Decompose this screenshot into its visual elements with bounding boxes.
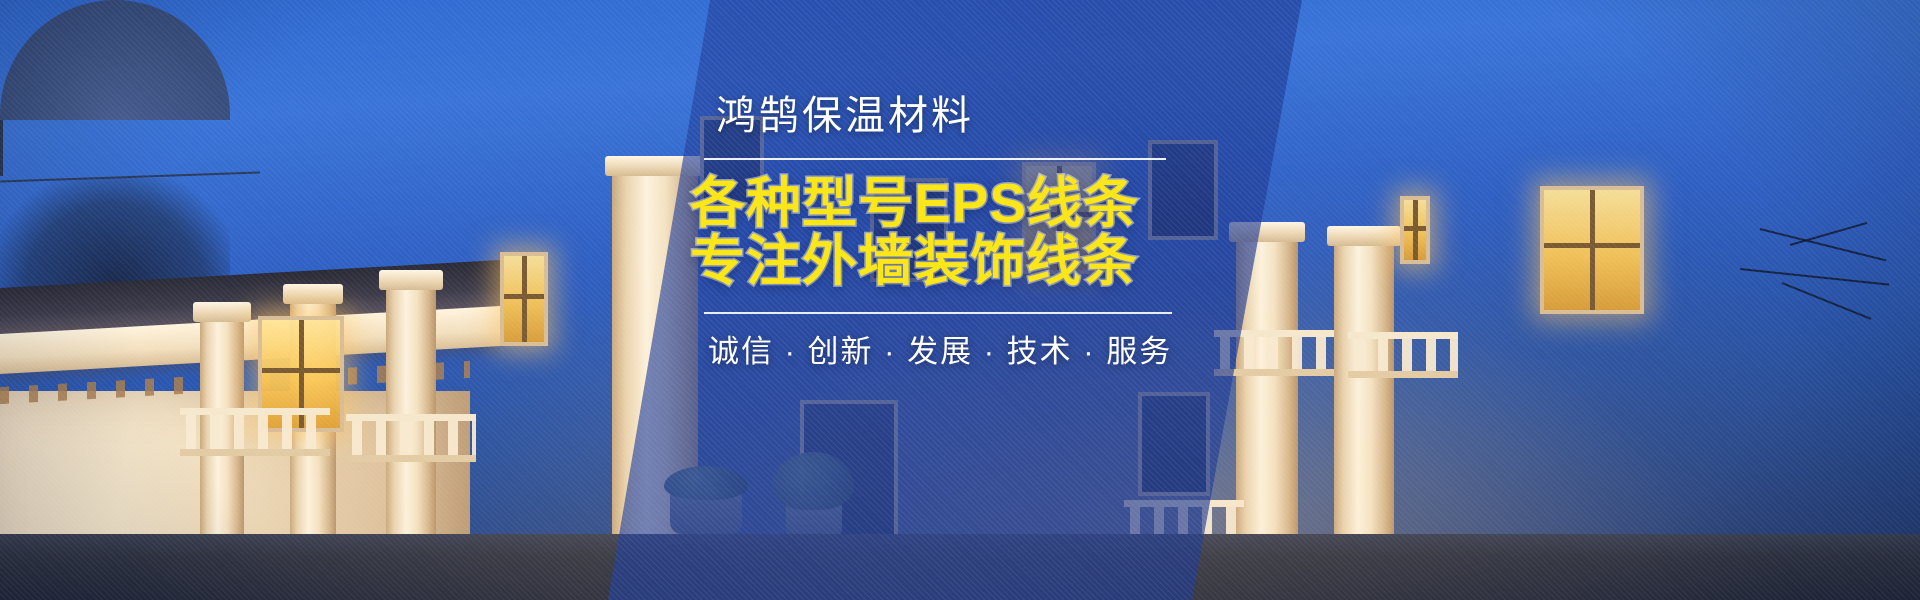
tree-branch-icon [1740,268,1889,286]
banner-copy: 鸿鹄保温材料 各种型号EPS线条 专注外墙装饰线条 诚信 · 创新 · 发展 ·… [690,96,1250,370]
brand-name: 鸿鹄保温材料 [716,96,1250,136]
balustrade [346,414,476,462]
shrub [664,466,748,500]
lit-window [500,252,548,346]
lit-window [1540,186,1644,314]
tree-branch-icon [1790,222,1867,246]
tree-branch-icon [1760,228,1887,261]
column [1334,242,1394,538]
distant-treeline [0,178,230,288]
balustrade [1348,332,1458,378]
divider-bottom [704,312,1172,314]
tagline: 诚信 · 创新 · 发展 · 技术 · 服务 [708,334,1250,370]
balustrade [180,408,330,456]
headline-line-1: 各种型号EPS线条 [690,174,1250,232]
distant-dome [0,0,230,120]
dark-window [1138,392,1210,496]
divider-top [704,158,1166,160]
tree-branch-icon [1782,282,1872,320]
ground [0,534,1920,600]
lit-window [1400,196,1430,264]
headline: 各种型号EPS线条 专注外墙装饰线条 [690,174,1250,290]
promo-banner: 鸿鹄保温材料 各种型号EPS线条 专注外墙装饰线条 诚信 · 创新 · 发展 ·… [0,0,1920,600]
headline-line-2: 专注外墙装饰线条 [690,232,1250,290]
distant-pole [0,120,3,176]
